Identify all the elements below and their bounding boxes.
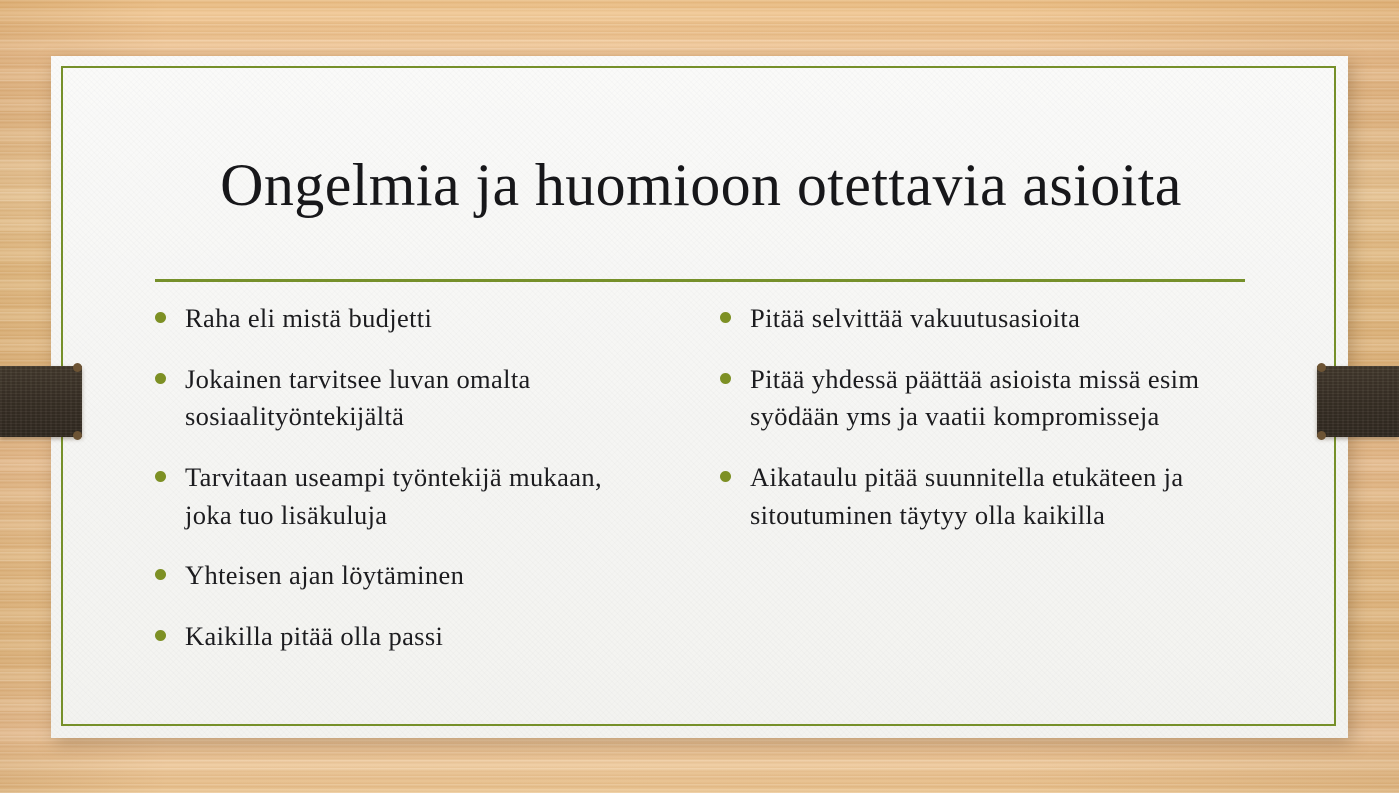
bullet-dot-icon	[155, 373, 166, 384]
bullet-dot-icon	[155, 471, 166, 482]
list-item-label: Yhteisen ajan löytäminen	[185, 557, 655, 595]
list-item-label: Tarvitaan useampi työntekijä mukaan, jok…	[185, 459, 655, 534]
list-item: Aikataulu pitää suunnitella etukäteen ja…	[720, 459, 1250, 534]
presentation-slide: Ongelmia ja huomioon otettavia asioita R…	[0, 0, 1399, 793]
list-item-label: Jokainen tarvitsee luvan omalta sosiaali…	[185, 361, 655, 436]
list-item: Pitää selvittää vakuutusasioita	[720, 300, 1250, 338]
slide-title: Ongelmia ja huomioon otettavia asioita	[155, 152, 1247, 219]
list-item: Jokainen tarvitsee luvan omalta sosiaali…	[155, 361, 655, 436]
list-item-label: Pitää selvittää vakuutusasioita	[750, 300, 1250, 338]
bullet-dot-icon	[155, 630, 166, 641]
bullet-dot-icon	[720, 471, 731, 482]
list-item-label: Raha eli mistä budjetti	[185, 300, 655, 338]
bullet-dot-icon	[720, 373, 731, 384]
list-item: Yhteisen ajan löytäminen	[155, 557, 655, 595]
bullet-dot-icon	[720, 312, 731, 323]
list-item: Kaikilla pitää olla passi	[155, 618, 655, 656]
list-item-label: Pitää yhdessä päättää asioista missä esi…	[750, 361, 1250, 436]
title-divider-rule	[155, 279, 1245, 282]
list-item: Raha eli mistä budjetti	[155, 300, 655, 338]
list-item-label: Kaikilla pitää olla passi	[185, 618, 655, 656]
right-column: Pitää selvittää vakuutusasioita Pitää yh…	[720, 300, 1250, 557]
bullet-dot-icon	[155, 569, 166, 580]
list-item: Tarvitaan useampi työntekijä mukaan, jok…	[155, 459, 655, 534]
list-item: Pitää yhdessä päättää asioista missä esi…	[720, 361, 1250, 436]
left-column: Raha eli mistä budjetti Jokainen tarvits…	[155, 300, 655, 678]
list-item-label: Aikataulu pitää suunnitella etukäteen ja…	[750, 459, 1250, 534]
bullet-dot-icon	[155, 312, 166, 323]
bullet-columns: Raha eli mistä budjetti Jokainen tarvits…	[0, 300, 1399, 700]
